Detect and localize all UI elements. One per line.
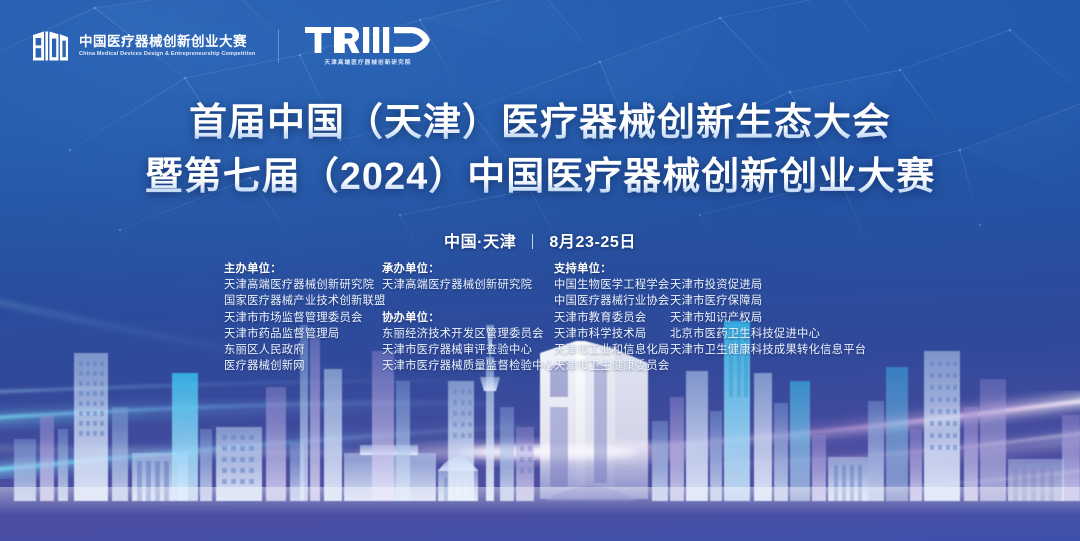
organizer-item: 东丽区人民政府 bbox=[224, 342, 382, 358]
organizer-item: 医疗器械创新网 bbox=[224, 358, 382, 374]
institute-logo: 天津高端医疗器械创新研究院 bbox=[305, 26, 431, 66]
competition-logo-text: 中国医疗器械创新创业大赛 China Medical Devices Desig… bbox=[79, 35, 252, 57]
supporter-item: 天津市教育委员会 bbox=[554, 310, 670, 326]
hosts-column: 承办单位： 天津高端医疗器械创新研究院 协办单位： 东丽经济技术开发区管理委员会… bbox=[382, 261, 554, 374]
organizing-units: 主办单位： 天津高端医疗器械创新研究院 国家医疗器械产业技术创新联盟 天津市市场… bbox=[224, 261, 866, 374]
co-organizer-item: 东丽经济技术开发区管理委员会 bbox=[382, 326, 554, 342]
supporters-column-b: 天津市投资促进局 天津市医疗保障局 天津市知识产权局 北京市医药卫生科技促进中心… bbox=[670, 261, 866, 358]
open-book-door-logo-icon bbox=[30, 26, 70, 66]
supporter-item: 天津市投资促进局 bbox=[670, 277, 866, 293]
supporter-item: 中国生物医学工程学会 bbox=[554, 277, 670, 293]
title-line-1: 首届中国（天津）医疗器械创新生态大会 bbox=[0, 97, 1080, 151]
organizer-item: 天津市市场监督管理委员会 bbox=[224, 310, 382, 326]
conference-banner: 中国医疗器械创新创业大赛 China Medical Devices Desig… bbox=[0, 0, 1080, 541]
competition-logo: 中国医疗器械创新创业大赛 China Medical Devices Desig… bbox=[30, 26, 252, 66]
co-organizer-item: 天津市医疗器械审评查验中心 bbox=[382, 342, 554, 358]
organizers-column: 主办单位： 天津高端医疗器械创新研究院 国家医疗器械产业技术创新联盟 天津市市场… bbox=[224, 261, 382, 374]
supporter-item: 天津市卫生健康委员会 bbox=[554, 358, 670, 374]
co-organizers-heading: 协办单位： bbox=[382, 310, 554, 326]
event-dates: 8月23-25日 bbox=[549, 234, 636, 251]
organizer-item: 国家医疗器械产业技术创新联盟 bbox=[224, 293, 382, 309]
host-item: 天津高端医疗器械创新研究院 bbox=[382, 277, 554, 293]
institute-name-cn: 天津高端医疗器械创新研究院 bbox=[324, 58, 411, 66]
hosts-heading: 承办单位： bbox=[382, 261, 554, 277]
supporter-item: 天津市工业和信息化局 bbox=[554, 342, 670, 358]
supporter-item: 中国医疗器械行业协会 bbox=[554, 293, 670, 309]
organizer-item: 天津市药品监督管理局 bbox=[224, 326, 382, 342]
supporter-item: 天津市科学技术局 bbox=[554, 326, 670, 342]
header-logo-bar: 中国医疗器械创新创业大赛 China Medical Devices Desig… bbox=[30, 26, 431, 66]
co-organizer-item: 天津市医疗器械质量监督检验中心 bbox=[382, 358, 554, 374]
supporter-item: 天津市卫生健康科技成果转化信息平台 bbox=[670, 342, 866, 358]
competition-name-en: China Medical Devices Design & Entrepren… bbox=[79, 52, 255, 57]
event-meta: 中国·天津 8月23-25日 bbox=[0, 228, 1080, 252]
event-location: 中国·天津 bbox=[444, 234, 516, 251]
column-spacer bbox=[382, 293, 554, 309]
logo-divider bbox=[278, 29, 279, 63]
event-titles: 首届中国（天津）医疗器械创新生态大会 暨第七届（2024）中国医疗器械创新创业大… bbox=[0, 97, 1080, 205]
supporter-item: 天津市知识产权局 bbox=[670, 310, 866, 326]
supporters-column-a: 支持单位： 中国生物医学工程学会 中国医疗器械行业协会 天津市教育委员会 天津市… bbox=[554, 261, 670, 374]
triid-wordmark-icon bbox=[305, 26, 431, 54]
supporters-heading: 支持单位： bbox=[554, 261, 670, 277]
organizers-heading: 主办单位： bbox=[224, 261, 382, 277]
meta-separator bbox=[532, 234, 533, 249]
organizer-item: 天津高端医疗器械创新研究院 bbox=[224, 277, 382, 293]
supporter-item: 天津市医疗保障局 bbox=[670, 293, 866, 309]
supporter-item: 北京市医药卫生科技促进中心 bbox=[670, 326, 866, 342]
title-line-2: 暨第七届（2024）中国医疗器械创新创业大赛 bbox=[0, 151, 1080, 205]
competition-name-cn: 中国医疗器械创新创业大赛 bbox=[79, 35, 252, 49]
